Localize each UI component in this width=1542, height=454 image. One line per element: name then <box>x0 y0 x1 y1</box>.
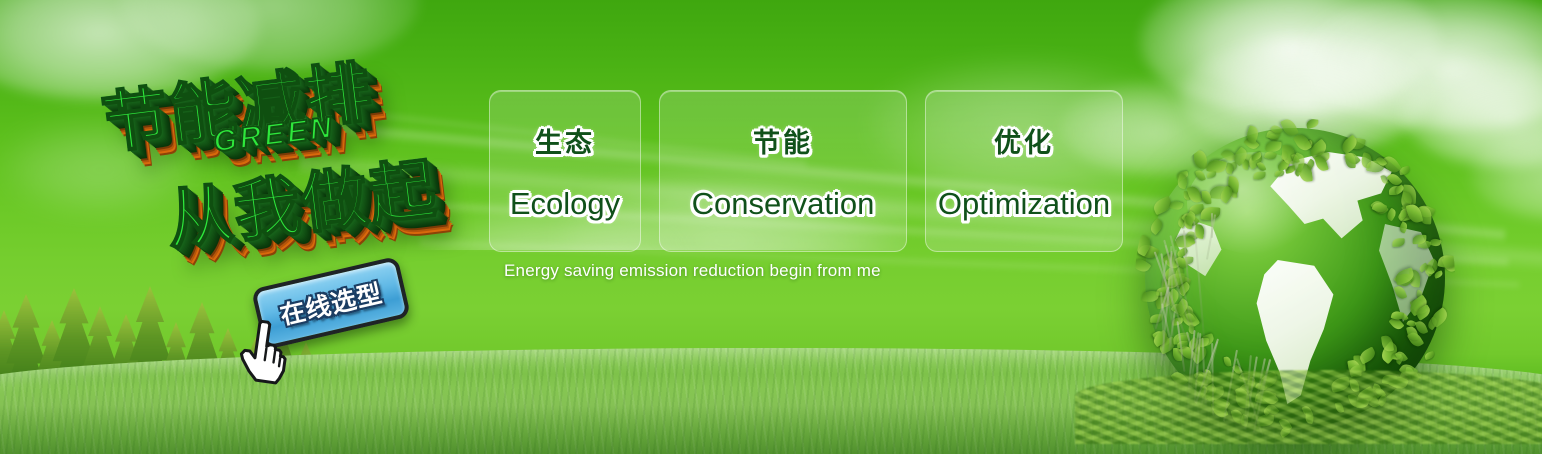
feature-card-conservation[interactable]: 节能 Conservation <box>659 90 907 252</box>
globe-leaf <box>1305 119 1318 129</box>
clouds-icon <box>1470 130 1542 220</box>
clouds-icon <box>1300 0 1542 130</box>
leafy-globe-icon <box>1135 118 1455 438</box>
clouds-icon <box>1140 0 1440 116</box>
headline-logo: 节能减排 GREEN 从我做起 <box>91 20 496 295</box>
feature-card-optimization[interactable]: 优化 Optimization <box>925 90 1123 252</box>
continent-greenland <box>1175 218 1229 284</box>
pointing-hand-cursor-icon <box>232 314 297 387</box>
feature-card-cn-label: 生态 <box>535 121 595 160</box>
feature-card-en-label: Conservation <box>692 186 875 222</box>
feature-card-list: 生态 Ecology 节能 Conservation 优化 Optimizati… <box>489 90 1123 252</box>
continent-north-america <box>1265 152 1397 242</box>
feature-card-cn-label: 优化 <box>994 121 1054 160</box>
feature-card-en-label: Optimization <box>938 186 1110 222</box>
feature-card-ecology[interactable]: 生态 Ecology <box>489 90 641 252</box>
feature-card-en-label: Ecology <box>510 186 620 222</box>
feature-card-cn-label: 节能 <box>753 121 813 160</box>
green-hero-banner: 节能减排 GREEN 从我做起 在线选型 生态 Ecology 节能 Conse… <box>0 0 1542 454</box>
continent-africa <box>1379 224 1439 326</box>
tagline: Energy saving emission reduction begin f… <box>504 261 881 281</box>
leaf-litter <box>1075 370 1542 444</box>
